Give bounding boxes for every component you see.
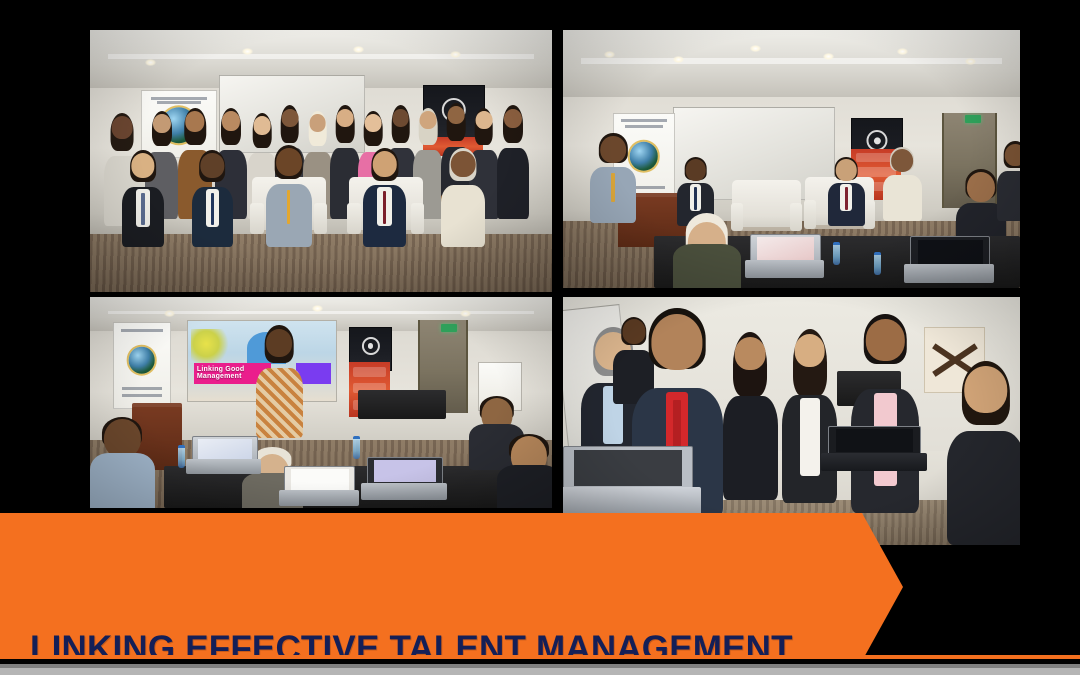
photo-collage: Linking Good Management bbox=[0, 0, 1080, 560]
projected-slide-text: Linking Good Management bbox=[197, 366, 245, 381]
photo-group-photo bbox=[90, 30, 552, 292]
photo-participants-networking bbox=[563, 297, 1020, 545]
presentation-slide: Linking Good Management bbox=[0, 0, 1080, 675]
photo-presentation-session: Linking Good Management bbox=[90, 297, 552, 508]
photo-panel-session bbox=[563, 30, 1020, 288]
light-gray-strip bbox=[0, 668, 1080, 675]
title-banner: LINKING EFFECTIVE TALENT MANAGEMENT WITH… bbox=[0, 513, 903, 661]
